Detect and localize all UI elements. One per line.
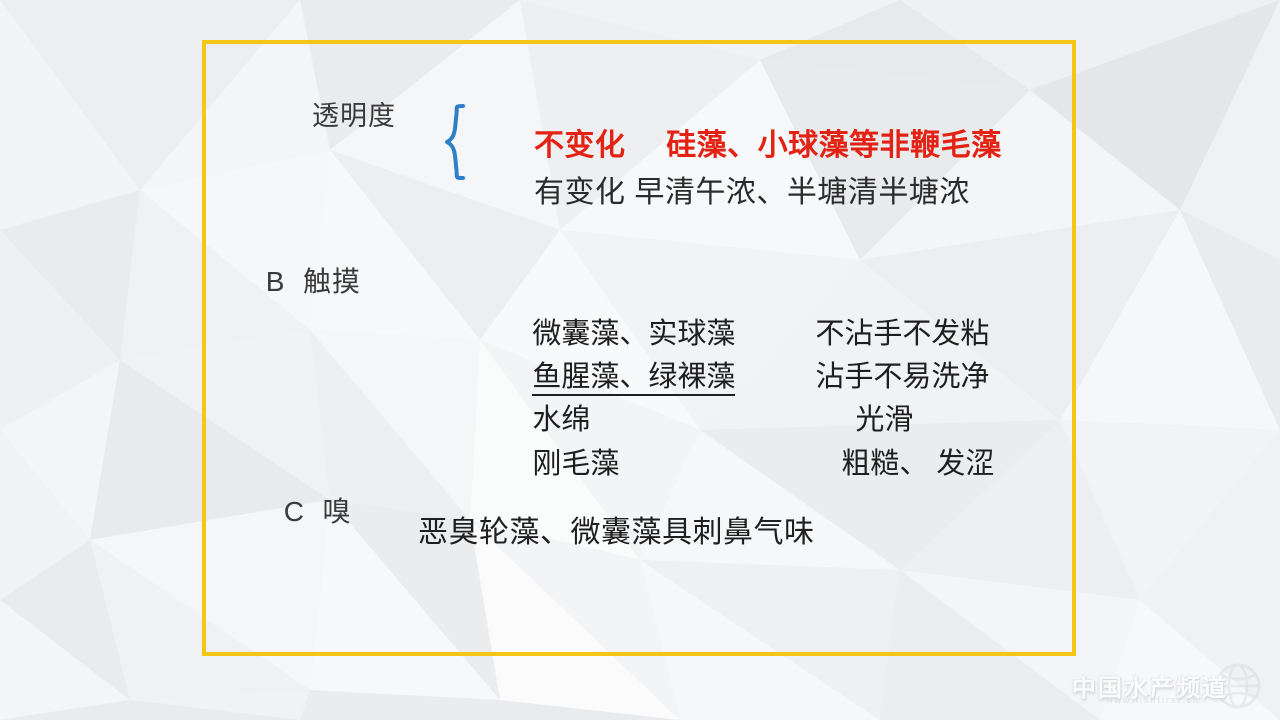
- section-b-marker: B: [266, 266, 286, 297]
- section-c-title: 嗅: [322, 496, 351, 527]
- watermark: 中国水产频道 www.fishfirst.cn: [1064, 660, 1264, 714]
- transparency-label: 透明度: [312, 103, 396, 130]
- touch-feel-3: 粗糙、 发涩: [815, 450, 994, 479]
- watermark-url: www.fishfirst.cn: [1106, 695, 1200, 705]
- section-c-heading: C 嗅: [231, 470, 352, 554]
- section-b-title: 触摸: [303, 266, 361, 297]
- transparency-row-changes: 有变化 早清午浓、半塘清半塘浓: [481, 148, 970, 238]
- section-c-marker: C: [284, 496, 305, 527]
- touch-algae-3: 刚毛藻: [532, 450, 815, 479]
- section-b-heading: B 触摸: [213, 240, 361, 324]
- transparency-detail-1: 早清午浓、半塘清半塘浓: [634, 176, 970, 209]
- slide-canvas: 透明度 不变化 硅藻、小球藻等非鞭毛藻 有变化 早清午浓、半塘清半塘浓 B 触摸…: [0, 0, 1280, 720]
- spacer-c: [305, 496, 323, 527]
- curly-brace-icon: [443, 104, 469, 180]
- transparency-state-1: 有变化: [534, 176, 626, 209]
- smell-description: 恶臭轮藻、微囊藻具刺鼻气味: [418, 518, 815, 548]
- slide-content: 透明度 不变化 硅藻、小球藻等非鞭毛藻 有变化 早清午浓、半塘清半塘浓 B 触摸…: [0, 0, 1280, 720]
- spacer-b: [285, 266, 303, 297]
- touch-row: 刚毛藻粗糙、 发涩: [484, 421, 994, 508]
